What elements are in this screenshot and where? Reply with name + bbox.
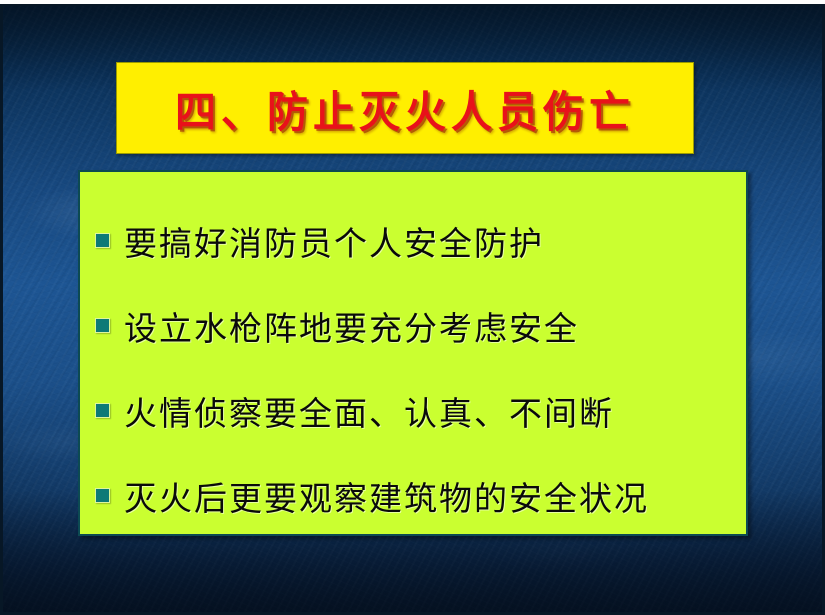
bullet-item-1: 要搞好消防员个人安全防护 <box>80 198 746 283</box>
square-bullet-icon <box>95 403 110 418</box>
bullet-item-4: 灭火后更要观察建筑物的安全状况 <box>80 453 746 538</box>
title-banner: 四、防止灭火人员伤亡 <box>116 62 694 154</box>
bullet-item-3: 火情侦察要全面、认真、不间断 <box>80 368 746 453</box>
bullet-item-label: 要搞好消防员个人安全防护 <box>124 217 544 265</box>
bullet-item-label: 设立水枪阵地要充分考虑安全 <box>124 302 579 350</box>
square-bullet-icon <box>95 318 110 333</box>
presentation-slide: 四、防止灭火人员伤亡 要搞好消防员个人安全防护 设立水枪阵地要充分考虑安全 火情… <box>0 0 825 615</box>
content-box: 要搞好消防员个人安全防护 设立水枪阵地要充分考虑安全 火情侦察要全面、认真、不间… <box>78 170 748 536</box>
bullet-item-label: 灭火后更要观察建筑物的安全状况 <box>124 472 649 520</box>
square-bullet-icon <box>95 233 110 248</box>
square-bullet-icon <box>95 488 110 503</box>
slide-title: 四、防止灭火人员伤亡 <box>175 76 635 140</box>
slide-top-strip <box>0 0 825 4</box>
bullet-item-label: 火情侦察要全面、认真、不间断 <box>124 387 614 435</box>
bullet-item-2: 设立水枪阵地要充分考虑安全 <box>80 283 746 368</box>
